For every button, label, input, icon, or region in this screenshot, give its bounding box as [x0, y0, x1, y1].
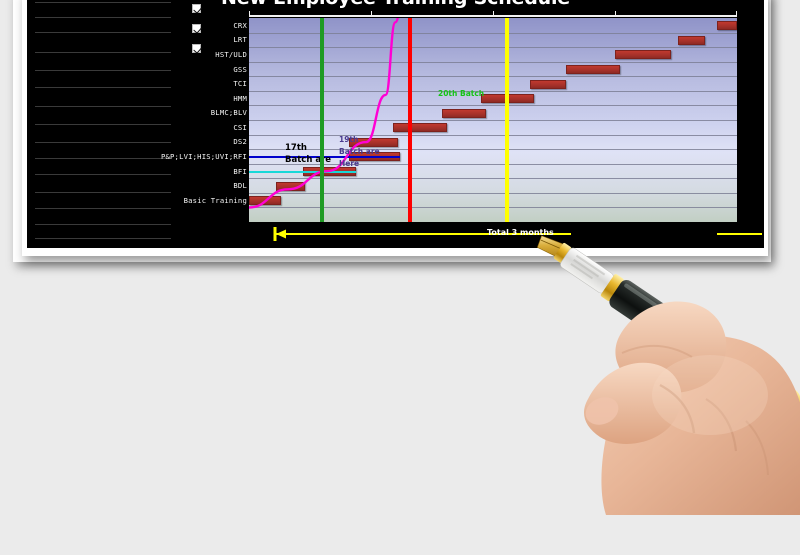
y-axis-label: BDL [87, 181, 247, 190]
annotation-19th-line1: 19th [339, 134, 380, 146]
y-axis-label: GSS [87, 65, 247, 74]
gantt-bar[interactable] [249, 196, 281, 205]
y-axis-label: HMM [87, 94, 247, 103]
axis-tick [371, 11, 372, 16]
axis-tick [493, 11, 494, 16]
annotation-19th-line3: Here [339, 158, 380, 170]
green-marker [320, 18, 324, 222]
chart-y-axis-labels: CRXLRTHST/ULDGSSTCIHMMBLMC;BLVCSIDS2P&P;… [83, 18, 247, 222]
gantt-bar[interactable] [678, 36, 705, 45]
axis-tick [615, 11, 616, 16]
cyan-rule [249, 171, 356, 173]
axis-tick [736, 11, 737, 16]
gantt-bar[interactable] [442, 109, 486, 118]
y-axis-label: BFI [87, 167, 247, 176]
annotation-19th-batch: 19th Batch are Here [339, 134, 380, 170]
y-axis-label: BLMC;BLV [87, 108, 247, 117]
y-axis-label: P&P;LVI;HIS;UVI;RFI [87, 152, 247, 161]
gantt-bar[interactable] [530, 80, 567, 89]
annotation-17th-line1: 17th [285, 142, 331, 154]
annotation-20th-batch: 20th Batch [438, 89, 484, 98]
y-axis-label: TCI [87, 79, 247, 88]
gantt-bar[interactable] [276, 182, 305, 191]
axis-tick [249, 11, 250, 16]
y-axis-label: LRT [87, 35, 247, 44]
gantt-bar[interactable] [717, 21, 737, 30]
y-axis-label: DS2 [87, 137, 247, 146]
y-axis-label: Basic Training [87, 196, 247, 205]
y-axis-label: HST/ULD [87, 50, 247, 59]
hand-with-pen-image [510, 185, 800, 515]
y-axis-label: CRX [87, 21, 247, 30]
gantt-bar[interactable] [615, 50, 671, 59]
presentation-canvas: New Employee Training Schedule CRXLRTHST… [0, 0, 800, 555]
red-marker [408, 18, 412, 222]
gantt-bar[interactable] [393, 123, 447, 132]
annotation-17th-line2: Batch are [285, 154, 331, 166]
annotation-17th-batch: 17th Batch are [285, 142, 331, 166]
yellow-marker [505, 18, 509, 222]
gantt-bar[interactable] [566, 65, 620, 74]
y-axis-label: CSI [87, 123, 247, 132]
annotation-19th-line2: Batch are [339, 146, 380, 158]
